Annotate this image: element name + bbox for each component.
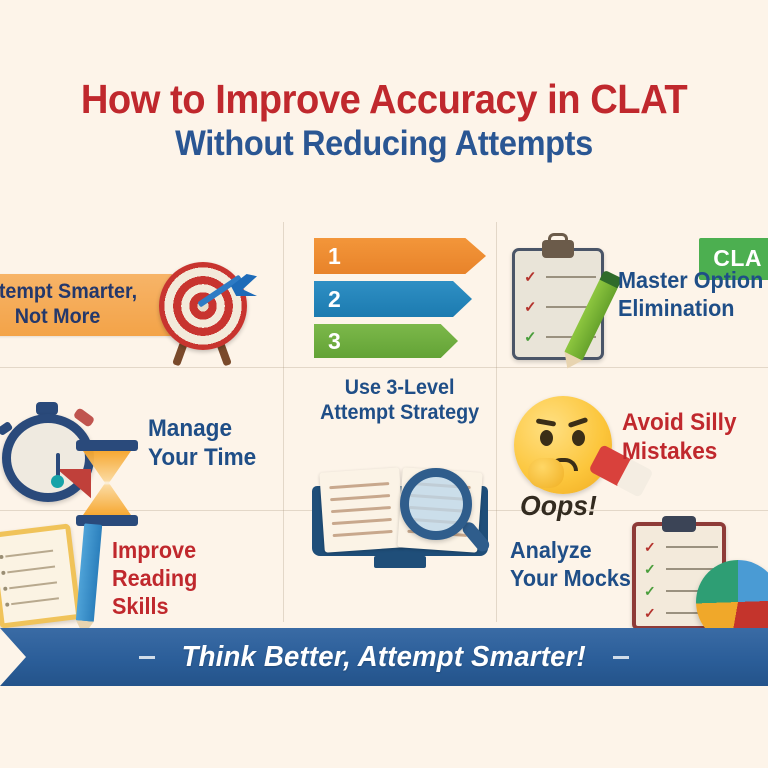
tip-card-three-level-strategy[interactable]: 1 2 3 Use 3-Level Attempt Strategy [300, 232, 500, 412]
page-title-line1: How to Improve Accuracy in CLAT [27, 78, 741, 121]
oops-caption: Oops! [520, 490, 597, 522]
magnifier-icon [400, 468, 484, 552]
step-arrow-3: 3 [314, 324, 458, 358]
tip-label-line1: Use 3-Level [320, 375, 479, 400]
infographic-page: How to Improve Accuracy in CLAT Without … [0, 0, 768, 768]
grid-divider-vertical-left [283, 222, 284, 622]
hourglass-icon [76, 440, 138, 526]
tip-label-line2: Skills [112, 592, 264, 620]
header-title-block: How to Improve Accuracy in CLAT Without … [0, 78, 768, 164]
tip-label-line2: Your Time [148, 443, 256, 472]
tip-label-line2: Mistakes [622, 437, 737, 466]
check-icon: ✓ [524, 330, 537, 345]
check-icon: ✓ [644, 606, 656, 620]
tip-label-line2: Elimination [618, 294, 763, 322]
check-icon: ✓ [644, 540, 656, 554]
attempt-smarter-banner: Attempt Smarter, Not More [0, 274, 172, 336]
tip-label-line1: Avoid Silly [622, 408, 737, 437]
open-book-magnifier-icon [312, 460, 488, 568]
dash-right-icon [613, 656, 629, 659]
tip-card-manage-your-time[interactable]: Manage Your Time [0, 390, 278, 525]
blue-pencil-icon [76, 523, 102, 622]
dartboard-arrow-icon [153, 258, 257, 362]
footer-ribbon: Think Better, Attempt Smarter! [0, 628, 768, 686]
tip-label-line2: Not More [0, 305, 137, 330]
step-arrow-1: 1 [314, 238, 486, 274]
footer-ribbon-wrap: Think Better, Attempt Smarter! [0, 628, 768, 686]
thinking-face-eraser-icon [514, 396, 612, 494]
tip-label-line1: Attempt Smarter, [0, 280, 137, 305]
tip-label-line2: Your Mocks [510, 564, 631, 592]
pencil-icon [564, 279, 618, 361]
tip-card-reading-focus[interactable] [300, 432, 500, 612]
check-icon: ✓ [524, 300, 537, 315]
step-arrow-2: 2 [314, 281, 472, 317]
tip-card-avoid-silly-mistakes[interactable]: Oops! Avoid Silly Mistakes [500, 390, 768, 530]
notepad-icon [0, 523, 82, 628]
tips-grid: Attempt Smarter, Not More 1 2 3 Use 3-Le… [0, 222, 768, 622]
tip-card-analyze-your-mocks[interactable]: Analyze Your Mocks ✓ ✓ ✓ ✓ [500, 522, 768, 637]
tip-label-line1: Improve Reading [112, 536, 264, 592]
check-icon: ✓ [524, 270, 537, 285]
check-icon: ✓ [644, 562, 656, 576]
numbered-arrows-icon: 1 2 3 [314, 238, 486, 365]
dash-left-icon [139, 656, 155, 659]
tip-card-attempt-smarter[interactable]: Attempt Smarter, Not More [0, 246, 278, 364]
tip-label-line1: Manage [148, 414, 256, 443]
tip-label-line1: Master Option [618, 266, 763, 294]
clipboard-checklist-pencil-icon: ✓ ✓ ✓ [512, 248, 604, 360]
check-icon: ✓ [644, 584, 656, 598]
tip-card-master-option-elimination[interactable]: ✓ ✓ ✓ Master Option Elimination [500, 242, 768, 367]
page-title-line2: Without Reducing Attempts [27, 125, 741, 164]
tip-label-line2: Attempt Strategy [320, 400, 479, 425]
tip-label-line1: Analyze [510, 536, 631, 564]
tip-card-improve-reading-skills[interactable]: Improve Reading Skills [0, 522, 274, 632]
footer-slogan: Think Better, Attempt Smarter! [182, 641, 586, 674]
